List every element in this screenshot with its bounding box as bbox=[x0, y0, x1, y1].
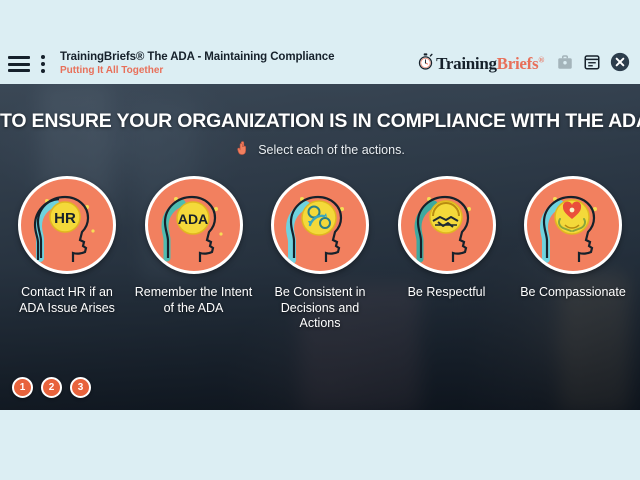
brand-wordmark: TrainingBriefs® bbox=[436, 54, 544, 74]
head-handshake-icon[interactable] bbox=[398, 176, 496, 274]
action-card-be-respectful[interactable]: Be Respectful bbox=[388, 176, 506, 332]
page-title: TO ENSURE YOUR ORGANIZATION IS IN COMPLI… bbox=[0, 110, 640, 133]
action-card-label: Be Compassionate bbox=[520, 285, 626, 301]
brand-part-briefs: Briefs bbox=[497, 54, 539, 73]
badge-hr: HR bbox=[54, 210, 76, 227]
hamburger-icon[interactable] bbox=[8, 56, 30, 72]
kebab-dot bbox=[41, 55, 45, 59]
close-icon[interactable] bbox=[610, 52, 630, 77]
action-card-label: Be Consistent in Decisions and Actions bbox=[261, 285, 379, 332]
pagination-dot-2[interactable]: 2 bbox=[41, 377, 62, 398]
hamburger-bar bbox=[8, 69, 30, 72]
instruction-row: Select each of the actions. bbox=[0, 140, 640, 159]
presentation-player: TrainingBriefs® The ADA - Maintaining Co… bbox=[0, 0, 640, 480]
kebab-menu-icon[interactable] bbox=[36, 55, 50, 73]
instruction-text: Select each of the actions. bbox=[258, 143, 405, 157]
notes-icon[interactable] bbox=[583, 53, 601, 76]
course-title: TrainingBriefs® The ADA - Maintaining Co… bbox=[60, 51, 417, 64]
action-card-remember-intent[interactable]: ADA Remember the Intent of the ADA bbox=[135, 176, 253, 332]
badge-ada: ADA bbox=[177, 211, 207, 227]
registered-mark: ® bbox=[538, 55, 544, 64]
action-card-contact-hr[interactable]: HR Contact HR if an ADA Issue Arises bbox=[8, 176, 126, 332]
brand-logo: TrainingBriefs® bbox=[417, 53, 544, 75]
action-card-be-consistent[interactable]: Be Consistent in Decisions and Actions bbox=[261, 176, 379, 332]
stopwatch-icon bbox=[417, 53, 434, 75]
head-gears-icon[interactable] bbox=[271, 176, 369, 274]
head-ada-icon[interactable]: ADA bbox=[145, 176, 243, 274]
action-card-be-compassionate[interactable]: Be Compassionate bbox=[514, 176, 632, 332]
app-header: TrainingBriefs® The ADA - Maintaining Co… bbox=[0, 44, 640, 84]
pointing-hand-icon bbox=[235, 140, 250, 159]
head-hr-icon[interactable]: HR bbox=[18, 176, 116, 274]
pagination-dot-1[interactable]: 1 bbox=[12, 377, 33, 398]
head-heart-hands-icon[interactable] bbox=[524, 176, 622, 274]
action-card-label: Be Respectful bbox=[408, 285, 486, 301]
pagination-dot-3[interactable]: 3 bbox=[70, 377, 91, 398]
action-card-list: HR Contact HR if an ADA Issue Arises bbox=[0, 176, 640, 332]
briefcase-icon bbox=[556, 53, 574, 76]
hamburger-bar bbox=[8, 56, 30, 59]
kebab-dot bbox=[41, 62, 45, 66]
header-titles: TrainingBriefs® The ADA - Maintaining Co… bbox=[60, 51, 417, 77]
hamburger-bar bbox=[8, 63, 30, 66]
slide-stage: TO ENSURE YOUR ORGANIZATION IS IN COMPLI… bbox=[0, 84, 640, 410]
kebab-dot bbox=[41, 69, 45, 73]
lesson-subtitle: Putting It All Together bbox=[60, 65, 417, 77]
action-card-label: Remember the Intent of the ADA bbox=[135, 285, 253, 316]
brand-part-training: Training bbox=[436, 54, 497, 73]
pagination: 1 2 3 bbox=[12, 377, 91, 398]
header-icon-group bbox=[556, 52, 630, 77]
action-card-label: Contact HR if an ADA Issue Arises bbox=[8, 285, 126, 316]
